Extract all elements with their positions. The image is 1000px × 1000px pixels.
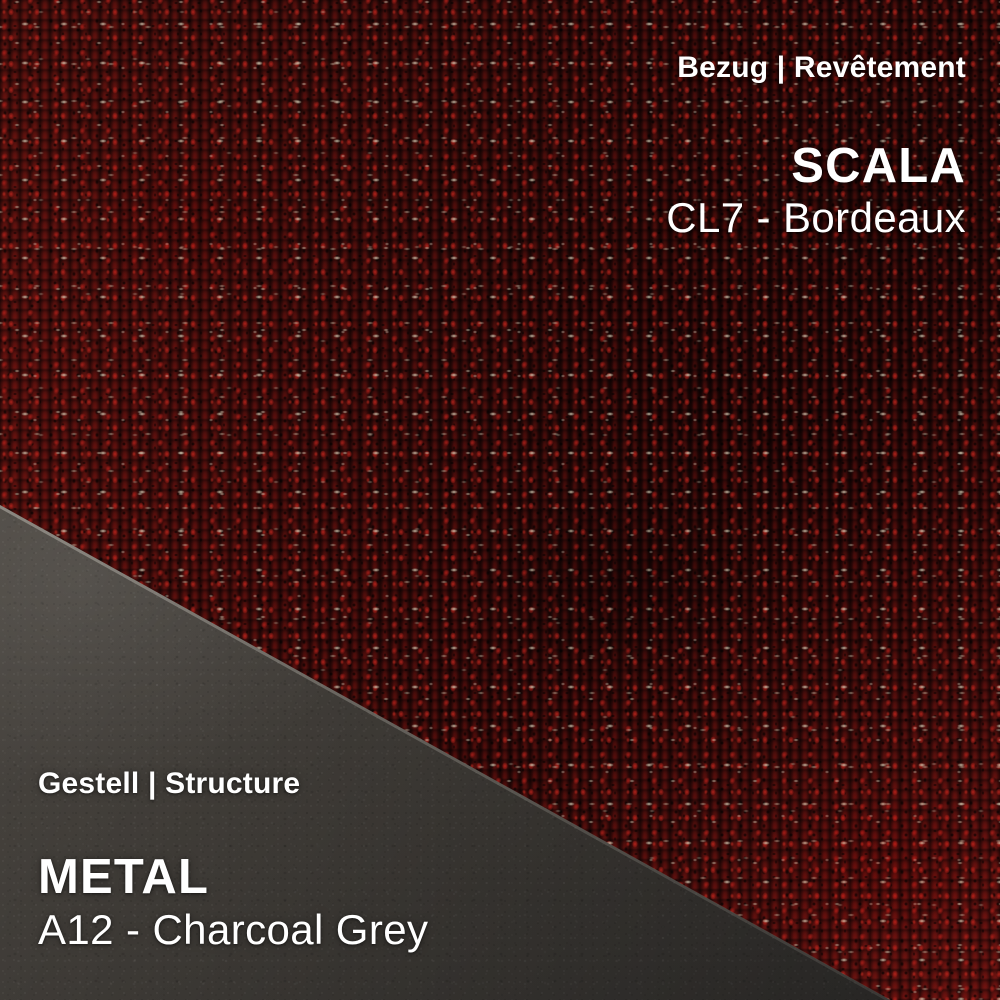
frame-material-code: A12 - Charcoal Grey [38, 906, 428, 954]
upholstery-label-block: Bezug | Revêtement SCALA CL7 - Bordeaux [666, 52, 966, 242]
upholstery-material-name: SCALA [666, 140, 966, 193]
upholstery-kicker: Bezug | Revêtement [666, 52, 966, 84]
material-swatch-card: Bezug | Revêtement SCALA CL7 - Bordeaux … [0, 0, 1000, 1000]
frame-material-name: METAL [38, 851, 428, 904]
upholstery-material-code: CL7 - Bordeaux [666, 194, 966, 242]
frame-label-block: Gestell | Structure METAL A12 - Charcoal… [38, 768, 428, 954]
frame-kicker: Gestell | Structure [38, 768, 428, 800]
